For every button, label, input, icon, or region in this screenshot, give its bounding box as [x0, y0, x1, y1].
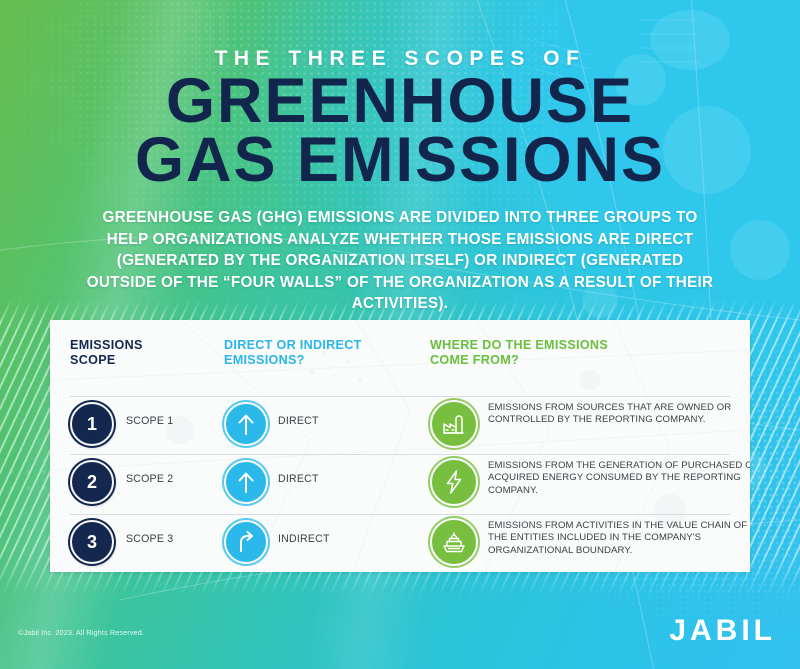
- copyright-text: ©Jabil Inc. 2023. All Rights Reserved.: [18, 628, 144, 637]
- jabil-logo: JABIL: [669, 614, 776, 648]
- title-line-1: GREENHOUSE: [0, 72, 800, 131]
- subtitle-paragraph: GREENHOUSE GAS (GHG) EMISSIONS ARE DIVID…: [86, 207, 714, 315]
- direction-icon-badge: [224, 460, 266, 502]
- scopes-table-card: EMISSIONS SCOPE DIRECT OR INDIRECT EMISS…: [50, 320, 750, 572]
- source-icon-badge: [430, 518, 476, 564]
- scope-number: 3: [70, 520, 114, 564]
- row-divider: [70, 396, 730, 397]
- table-header-row: EMISSIONS SCOPE DIRECT OR INDIRECT EMISS…: [70, 338, 730, 384]
- arrow-curved-right-icon: [234, 530, 258, 554]
- direction-label: DIRECT: [278, 473, 319, 485]
- column-header-emissions-scope: EMISSIONS SCOPE: [70, 338, 143, 367]
- page-title: GREENHOUSE GAS EMISSIONS: [0, 72, 800, 190]
- scope-label: SCOPE 3: [126, 533, 173, 545]
- infographic-poster: THE THREE SCOPES OF GREENHOUSE GAS EMISS…: [0, 0, 800, 669]
- scope-number: 1: [70, 402, 114, 446]
- direction-icon-badge: [224, 402, 266, 444]
- direction-label: INDIRECT: [278, 533, 330, 545]
- source-description: EMISSIONS FROM SOURCES THAT ARE OWNED OR…: [488, 402, 750, 427]
- arrow-up-icon: [235, 412, 257, 436]
- scope-number-badge: 1: [70, 402, 112, 444]
- direction-label: DIRECT: [278, 415, 319, 427]
- source-icon-badge: [430, 458, 476, 504]
- scope-number-badge: 2: [70, 460, 112, 502]
- table-row: 2 SCOPE 2 DIRECT: [70, 458, 730, 514]
- lightning-bolt-icon: [441, 469, 467, 495]
- table-row: 1 SCOPE 1 DIRECT: [70, 400, 730, 454]
- source-description: EMISSIONS FROM THE GENERATION OF PURCHAS…: [488, 460, 750, 497]
- source-description: EMISSIONS FROM ACTIVITIES IN THE VALUE C…: [488, 520, 750, 557]
- factory-icon: [441, 411, 467, 437]
- direction-icon-badge: [224, 520, 266, 562]
- scope-label: SCOPE 1: [126, 415, 173, 427]
- row-divider: [70, 514, 730, 515]
- row-divider: [70, 454, 730, 455]
- column-header-where-from: WHERE DO THE EMISSIONS COME FROM?: [430, 338, 608, 367]
- column-header-direct-or-indirect: DIRECT OR INDIRECT EMISSIONS?: [224, 338, 362, 367]
- arrow-up-icon: [235, 470, 257, 494]
- scope-number: 2: [70, 460, 114, 504]
- source-icon-badge: [430, 400, 476, 446]
- title-line-2: GAS EMISSIONS: [0, 131, 800, 190]
- table-row: 3 SCOPE 3 INDIRECT: [70, 518, 730, 572]
- scope-label: SCOPE 2: [126, 473, 173, 485]
- scope-number-badge: 3: [70, 520, 112, 562]
- cargo-ship-icon: [441, 529, 467, 555]
